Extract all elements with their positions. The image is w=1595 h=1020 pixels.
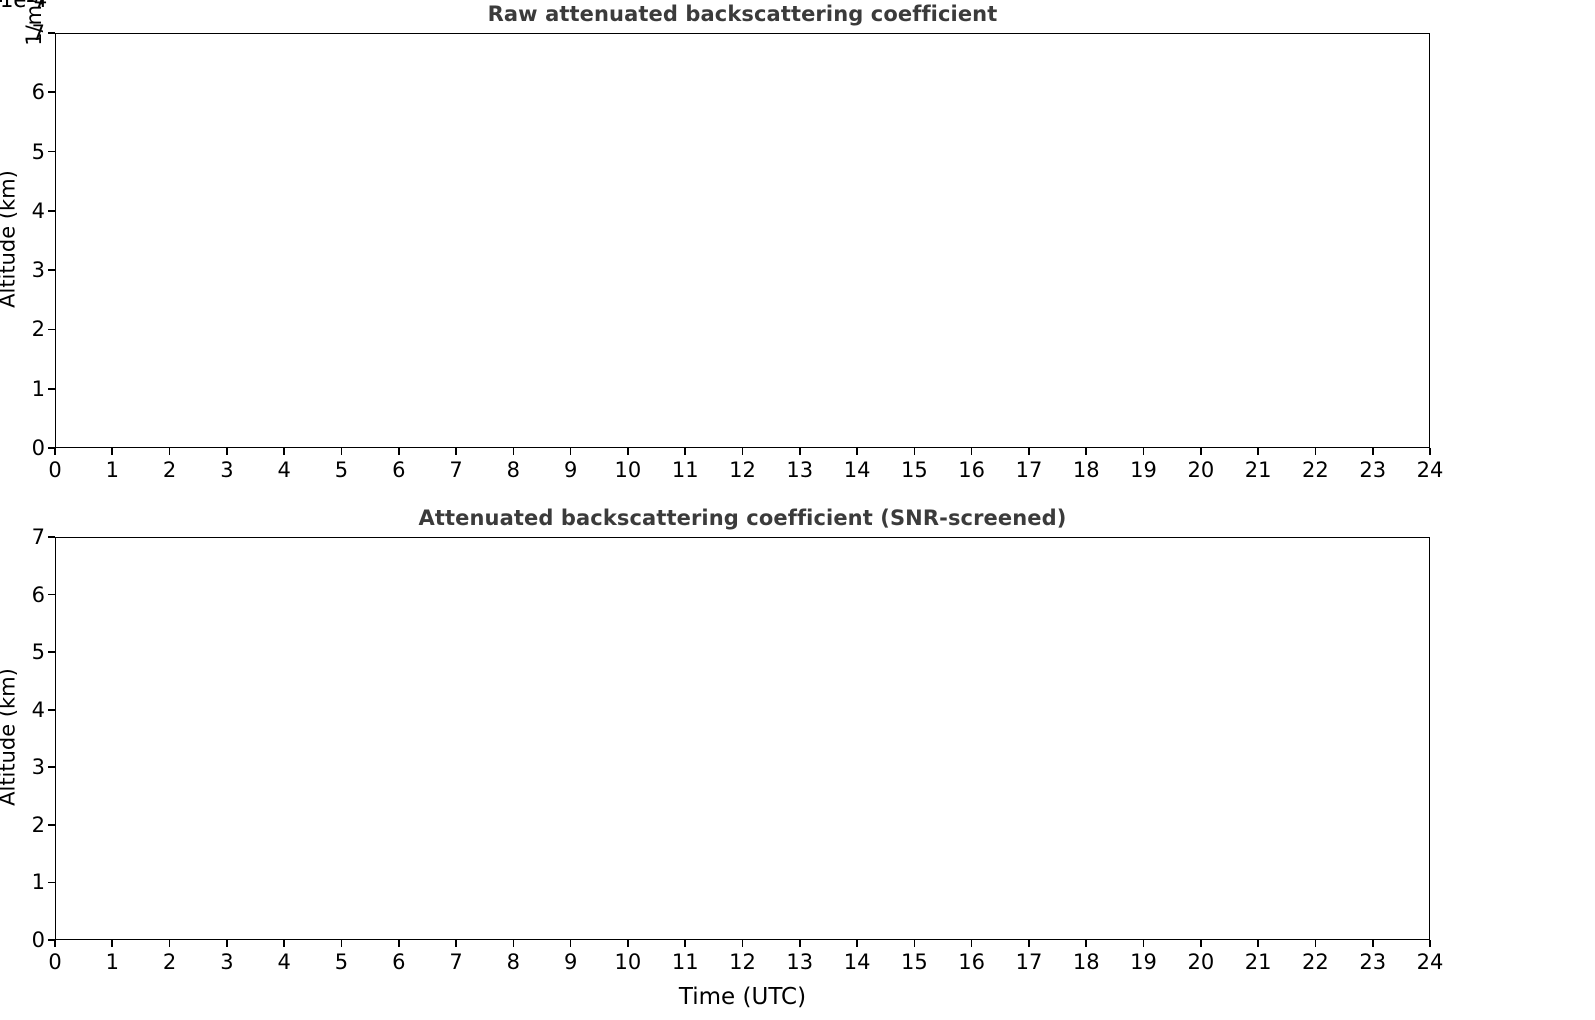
x-tick-label: 2 (163, 458, 176, 482)
x-tick-label: 5 (335, 458, 348, 482)
x-tick-label: 1 (106, 950, 119, 974)
x-tick-label: 22 (1302, 458, 1329, 482)
x-tick-mark (684, 940, 686, 947)
x-tick-mark (684, 448, 686, 455)
x-tick-mark (54, 448, 56, 455)
y-tick-mark (48, 651, 55, 653)
y-tick-mark (48, 709, 55, 711)
x-tick-label: 0 (48, 458, 61, 482)
x-tick-label: 14 (844, 458, 871, 482)
x-tick-label: 8 (507, 458, 520, 482)
x-tick-label: 13 (786, 950, 813, 974)
x-tick-mark (799, 448, 801, 455)
y-tick-mark (48, 766, 55, 768)
x-tick-label: 11 (672, 458, 699, 482)
x-tick-mark (283, 940, 285, 947)
x-tick-mark (627, 940, 629, 947)
x-tick-mark (856, 940, 858, 947)
lidar-backscatter-figure: Raw attenuated backscattering coefficien… (0, 0, 1595, 1020)
x-tick-mark (283, 448, 285, 455)
x-tick-label: 20 (1187, 950, 1214, 974)
x-tick-mark (914, 940, 916, 947)
x-tick-label: 24 (1417, 950, 1444, 974)
x-tick-mark (169, 448, 171, 455)
x-tick-mark (1429, 940, 1431, 947)
x-tick-mark (226, 940, 228, 947)
x-tick-label: 22 (1302, 950, 1329, 974)
x-tick-label: 3 (220, 458, 233, 482)
x-tick-label: 4 (277, 950, 290, 974)
x-tick-mark (1257, 940, 1259, 947)
x-tick-mark (1085, 940, 1087, 947)
x-tick-mark (1429, 448, 1431, 455)
y-tick-mark (48, 269, 55, 271)
x-tick-label: 24 (1417, 458, 1444, 482)
x-tick-mark (1315, 448, 1317, 455)
x-tick-mark (742, 448, 744, 455)
x-tick-label: 1 (106, 458, 119, 482)
x-tick-label: 4 (277, 458, 290, 482)
x-tick-label: 10 (615, 950, 642, 974)
y-tick-mark (48, 447, 55, 449)
y-tick-mark (48, 329, 55, 331)
x-tick-mark (971, 940, 973, 947)
x-tick-mark (1143, 448, 1145, 455)
x-tick-label: 7 (449, 950, 462, 974)
x-tick-mark (971, 448, 973, 455)
x-tick-mark (111, 448, 113, 455)
x-tick-label: 16 (958, 458, 985, 482)
x-tick-mark (1085, 448, 1087, 455)
x-tick-label: 9 (564, 458, 577, 482)
x-tick-label: 11 (672, 950, 699, 974)
x-tick-mark (856, 448, 858, 455)
x-tick-label: 14 (844, 950, 871, 974)
x-tick-label: 13 (786, 458, 813, 482)
colorbar-unit-label: 1/m/sr (22, 0, 46, 46)
x-tick-label: 17 (1016, 458, 1043, 482)
x-tick-mark (799, 940, 801, 947)
x-tick-mark (513, 940, 515, 947)
x-tick-mark (226, 448, 228, 455)
x-tick-label: 5 (335, 950, 348, 974)
x-tick-label: 12 (729, 458, 756, 482)
x-tick-label: 18 (1073, 458, 1100, 482)
panel-screened-ylabel: Altitude (km) (0, 535, 19, 938)
x-tick-label: 23 (1359, 458, 1386, 482)
x-tick-mark (398, 940, 400, 947)
x-tick-label: 21 (1245, 950, 1272, 974)
panel-screened-axes (55, 537, 1430, 940)
x-tick-mark (1315, 940, 1317, 947)
y-tick-mark (48, 210, 55, 212)
x-tick-mark (1028, 448, 1030, 455)
x-tick-label: 17 (1016, 950, 1043, 974)
x-tick-label: 21 (1245, 458, 1272, 482)
x-tick-label: 19 (1130, 458, 1157, 482)
x-tick-mark (1257, 448, 1259, 455)
x-tick-mark (54, 940, 56, 947)
x-tick-mark (513, 448, 515, 455)
x-tick-mark (169, 940, 171, 947)
y-tick-mark (48, 594, 55, 596)
x-tick-mark (455, 448, 457, 455)
x-tick-label: 9 (564, 950, 577, 974)
y-tick-mark (48, 388, 55, 390)
x-tick-mark (341, 448, 343, 455)
x-tick-label: 2 (163, 950, 176, 974)
x-tick-mark (570, 940, 572, 947)
x-tick-mark (1200, 448, 1202, 455)
x-tick-mark (398, 448, 400, 455)
panel-screened-title: Attenuated backscattering coefficient (S… (55, 506, 1430, 530)
x-tick-mark (1028, 940, 1030, 947)
x-tick-label: 16 (958, 950, 985, 974)
y-tick-mark (48, 882, 55, 884)
x-tick-label: 12 (729, 950, 756, 974)
x-tick-label: 19 (1130, 950, 1157, 974)
x-tick-mark (455, 940, 457, 947)
y-tick-mark (48, 824, 55, 826)
x-tick-mark (111, 940, 113, 947)
x-tick-mark (1372, 940, 1374, 947)
x-tick-label: 15 (901, 458, 928, 482)
x-tick-label: 20 (1187, 458, 1214, 482)
x-tick-mark (742, 940, 744, 947)
x-tick-mark (341, 940, 343, 947)
x-tick-mark (914, 448, 916, 455)
x-tick-label: 7 (449, 458, 462, 482)
y-tick-mark (48, 939, 55, 941)
y-tick-mark (48, 536, 55, 538)
x-tick-label: 8 (507, 950, 520, 974)
x-tick-label: 6 (392, 458, 405, 482)
x-tick-mark (1200, 940, 1202, 947)
y-tick-mark (48, 151, 55, 153)
x-tick-mark (570, 448, 572, 455)
x-tick-mark (627, 448, 629, 455)
x-tick-label: 10 (615, 458, 642, 482)
x-tick-mark (1372, 448, 1374, 455)
x-tick-label: 6 (392, 950, 405, 974)
x-tick-label: 3 (220, 950, 233, 974)
x-tick-label: 18 (1073, 950, 1100, 974)
x-tick-label: 0 (48, 950, 61, 974)
x-tick-label: 23 (1359, 950, 1386, 974)
panel-screened-xlabel: Time (UTC) (55, 984, 1430, 1010)
x-tick-mark (1143, 940, 1145, 947)
x-tick-label: 15 (901, 950, 928, 974)
